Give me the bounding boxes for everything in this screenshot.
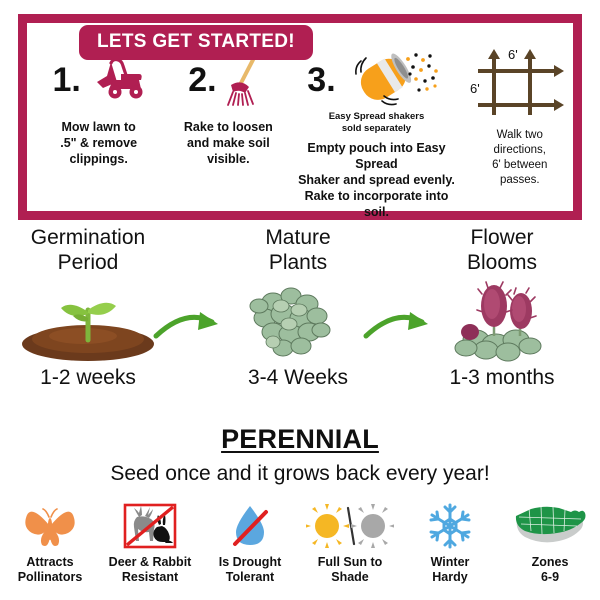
sun-to-shade-icon xyxy=(300,500,400,552)
stage-1-duration: 1-2 weeks xyxy=(0,366,178,390)
stage-1-title: Germination Period xyxy=(0,226,178,276)
feature-attracts-pollinators: Attracts Pollinators xyxy=(0,500,100,585)
usa-map-icon xyxy=(500,500,600,552)
feature-label: Full Sun to Shade xyxy=(300,555,400,585)
stage-2-title: Mature Plants xyxy=(208,226,388,276)
spacing-diagram: 6' 6' Walk two directions, 6' between pa… xyxy=(467,23,573,188)
step-1-number: 1. xyxy=(52,63,80,97)
feature-label: Is Drought Tolerant xyxy=(200,555,300,585)
feature-drought-tolerant: Is Drought Tolerant xyxy=(200,500,300,585)
step-3-text: Empty pouch into Easy Spread Shaker and … xyxy=(286,140,466,220)
feature-full-sun-to-shade: Full Sun to Shade xyxy=(300,500,400,585)
stage-3-duration: 1-3 months xyxy=(412,366,592,390)
clover-blooms-icon xyxy=(412,276,592,364)
feature-deer-rabbit-resistant: Deer & Rabbit Resistant xyxy=(100,500,200,585)
clover-leaves-icon xyxy=(208,276,388,364)
feature-winter-hardy: Winter Hardy xyxy=(400,500,500,585)
no-water-drop-icon xyxy=(200,500,300,552)
feature-zones: Zones 6-9 xyxy=(500,500,600,585)
spacing-grid-icon: 6' 6' xyxy=(467,45,573,124)
perennial-subtitle: Seed once and it grows back every year! xyxy=(0,462,600,486)
stage-2-duration: 3-4 Weeks xyxy=(208,366,388,390)
step-3-header: 3. xyxy=(286,49,466,111)
step-3-number: 3. xyxy=(307,63,335,97)
stage-mature-plants: Mature Plants 3-4 Weeks xyxy=(208,226,388,390)
no-deer-rabbit-icon xyxy=(100,500,200,552)
perennial-section: PERENNIAL Seed once and it grows back ev… xyxy=(0,424,600,486)
snowflake-icon xyxy=(400,500,500,552)
grid-label-vertical: 6' xyxy=(470,81,480,96)
seed-shaker-icon xyxy=(338,47,446,114)
stage-3-title: Flower Blooms xyxy=(412,226,592,276)
lawn-mower-icon xyxy=(83,56,145,105)
get-started-panel: 1. Mow lawn to .5" & remove clippings. xyxy=(18,14,582,220)
perennial-title: PERENNIAL xyxy=(0,424,600,455)
step-2-text: Rake to loosen and make soil visible. xyxy=(170,119,286,167)
step-2-number: 2. xyxy=(188,63,216,97)
feature-label: Attracts Pollinators xyxy=(0,555,100,585)
get-started-banner: LETS GET STARTED! xyxy=(79,25,313,60)
growth-stages: Germination Period 1-2 weeks Mature Plan… xyxy=(0,226,600,418)
spacing-caption: Walk two directions, 6' between passes. xyxy=(467,128,573,188)
feature-label: Deer & Rabbit Resistant xyxy=(100,555,200,585)
butterfly-icon xyxy=(0,500,100,552)
feature-label: Winter Hardy xyxy=(400,555,500,585)
step-3-note: Easy Spread shakers sold separately xyxy=(286,111,466,135)
step-1-text: Mow lawn to .5" & remove clippings. xyxy=(27,119,170,167)
feature-icons-row: Attracts Pollinators Deer & Rabbit xyxy=(0,500,600,600)
step-3: 3. xyxy=(286,23,466,220)
stage-flower-blooms: Flower Blooms xyxy=(412,226,592,390)
grid-label-horizontal: 6' xyxy=(508,47,518,62)
feature-label: Zones 6-9 xyxy=(500,555,600,585)
